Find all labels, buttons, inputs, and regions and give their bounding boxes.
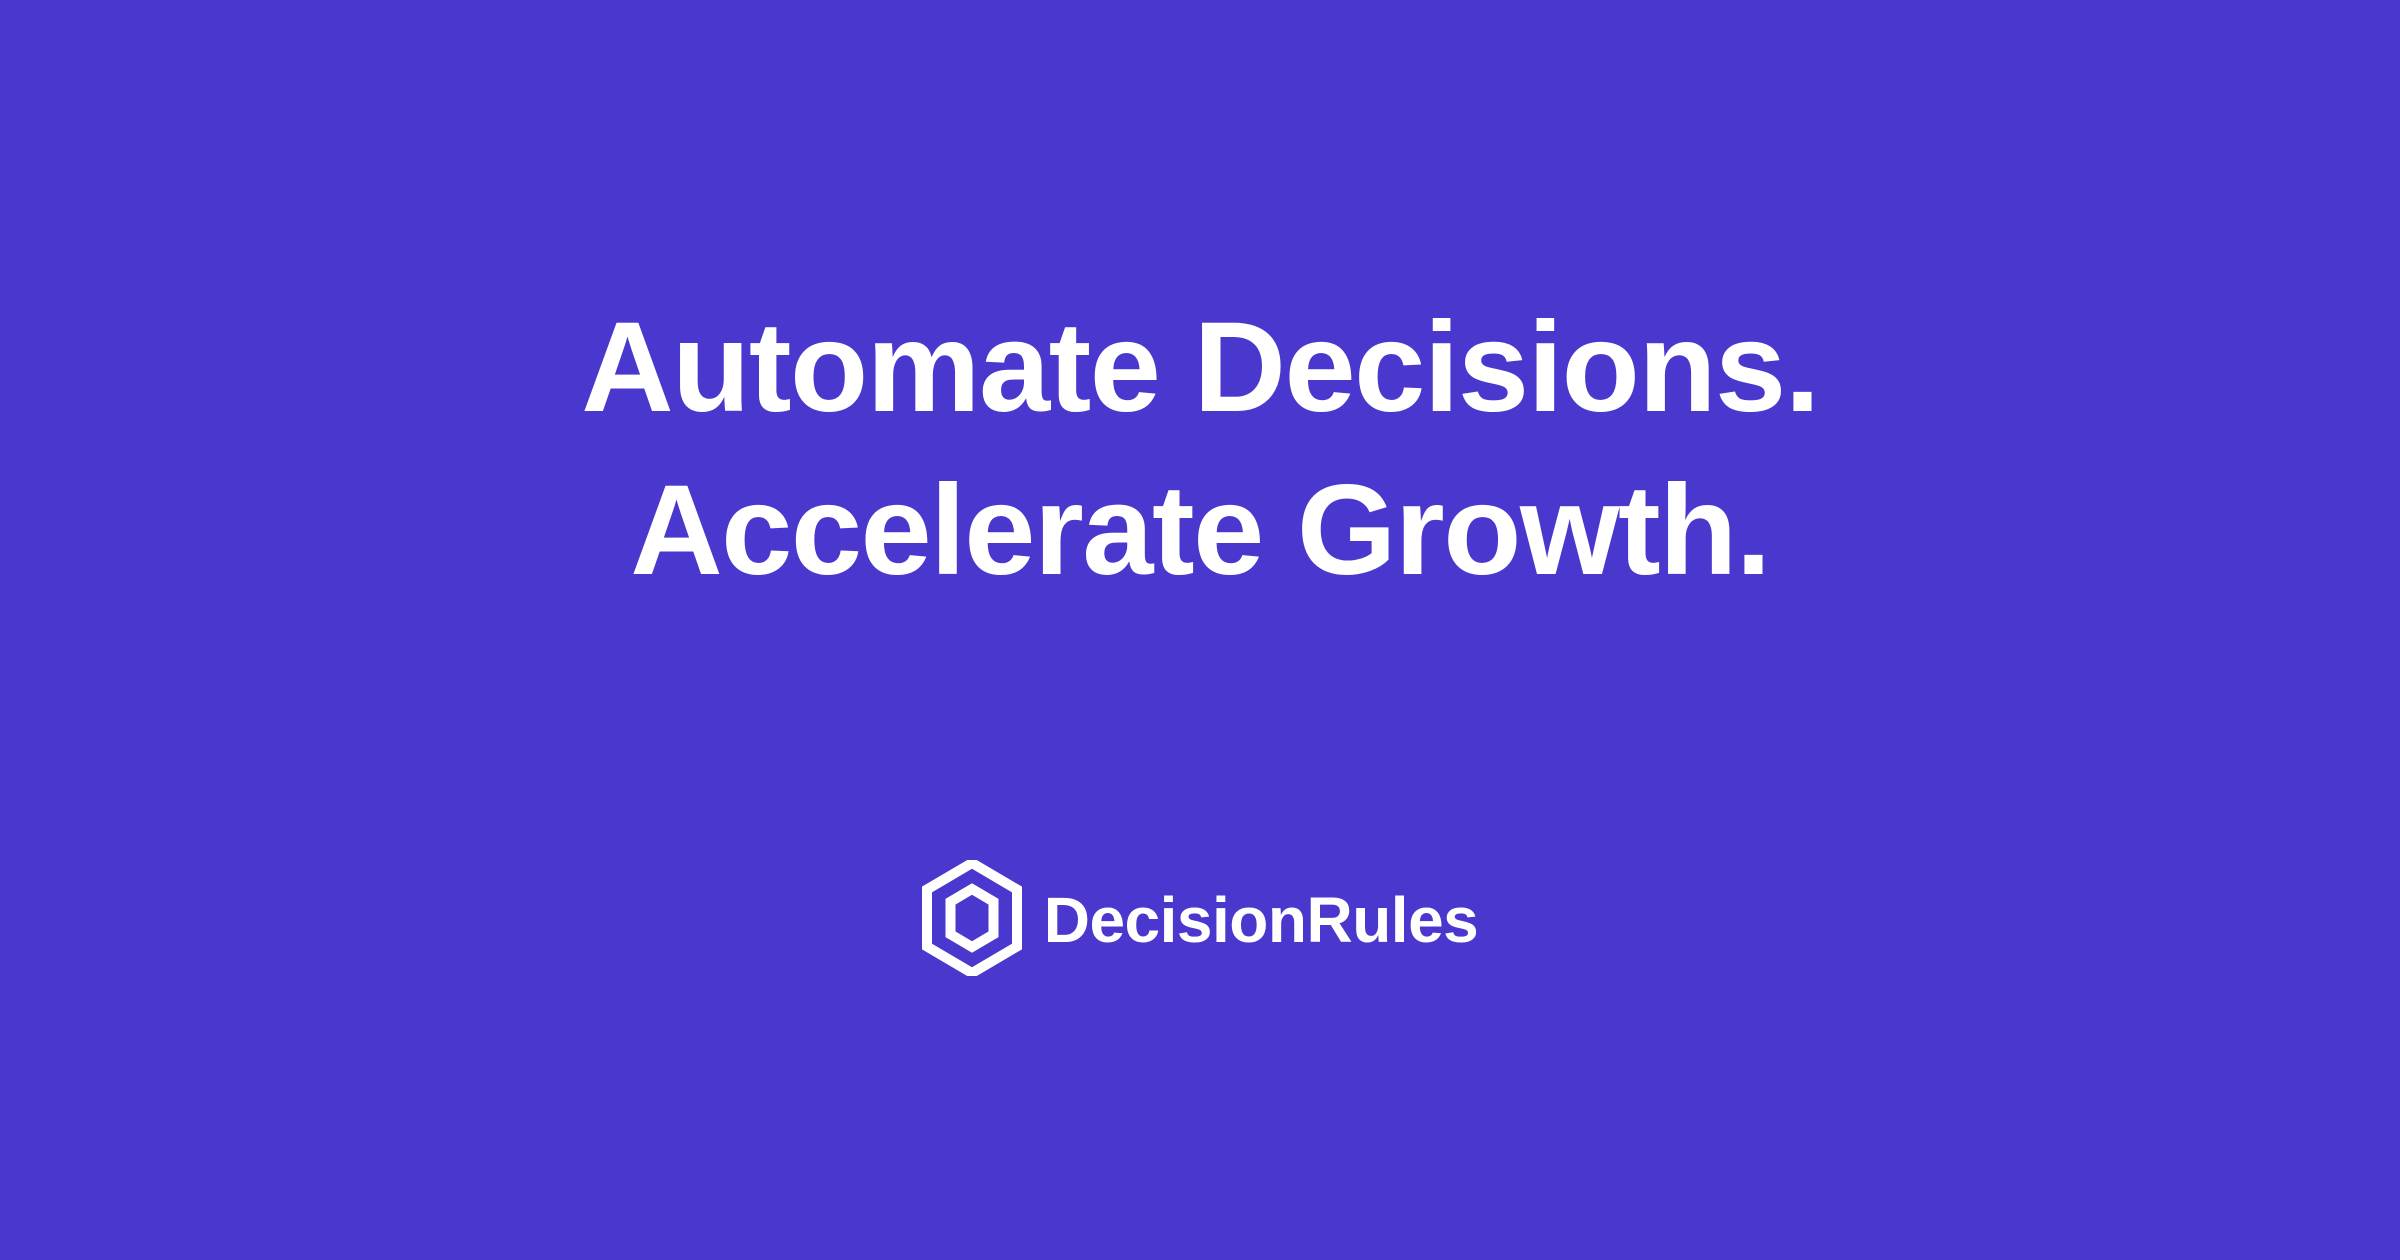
hexagon-logo-icon: [922, 860, 1022, 976]
social-card: Automate Decisions. Accelerate Growth. D…: [0, 0, 2400, 1260]
headline-line-1: Automate Decisions.: [0, 286, 2400, 449]
brand-logo-lockup: DecisionRules: [0, 860, 2400, 976]
headline-line-2: Accelerate Growth.: [0, 449, 2400, 612]
page-title: Automate Decisions. Accelerate Growth.: [0, 286, 2400, 612]
brand-wordmark: DecisionRules: [1044, 888, 1479, 952]
